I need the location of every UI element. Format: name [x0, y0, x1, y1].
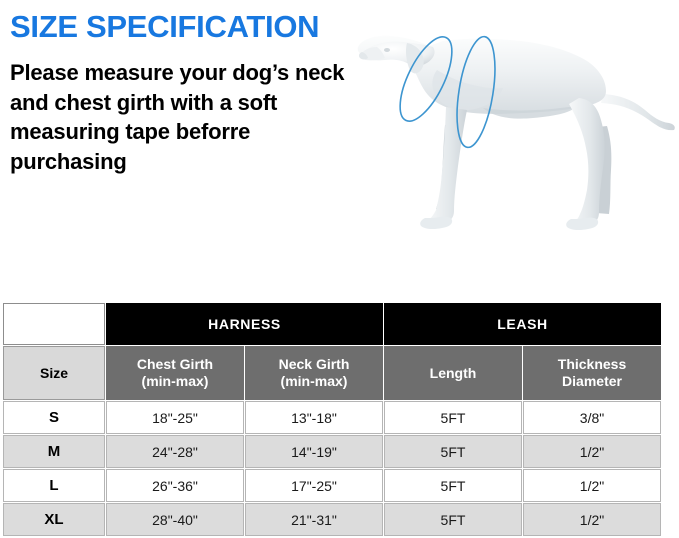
- table-row: L 26"-36" 17"-25" 5FT 1/2": [3, 469, 661, 502]
- cell-thickness: 1/2": [523, 503, 661, 536]
- cell-neck-girth: 17"-25": [245, 469, 383, 502]
- cell-thickness: 1/2": [523, 469, 661, 502]
- cell-length: 5FT: [384, 469, 522, 502]
- cell-length: 5FT: [384, 401, 522, 434]
- column-header-neck-girth: Neck Girth (min-max): [245, 346, 383, 400]
- column-header-chest-girth-line1: Chest Girth: [106, 356, 244, 373]
- group-header-harness: HARNESS: [106, 303, 383, 345]
- column-header-thickness-line1: Thickness: [523, 356, 661, 373]
- table-group-header-row: HARNESS LEASH: [3, 303, 661, 345]
- column-header-thickness-diameter: Thickness Diameter: [523, 346, 661, 400]
- table-row: M 24"-28" 14"-19" 5FT 1/2": [3, 435, 661, 468]
- cell-neck-girth: 21"-31": [245, 503, 383, 536]
- group-header-leash: LEASH: [384, 303, 661, 345]
- dog-front-leg: [427, 107, 467, 224]
- cell-size: XL: [3, 503, 105, 536]
- column-header-length: Length: [384, 346, 522, 400]
- column-header-chest-girth-line2: (min-max): [106, 373, 244, 390]
- size-specification-table: HARNESS LEASH Size Chest Girth (min-max)…: [2, 302, 662, 537]
- cell-chest-girth: 24"-28": [106, 435, 244, 468]
- cell-size: L: [3, 469, 105, 502]
- dog-mannequin-illustration: [333, 0, 679, 240]
- cell-length: 5FT: [384, 503, 522, 536]
- column-header-chest-girth: Chest Girth (min-max): [106, 346, 244, 400]
- group-header-blank: [3, 303, 105, 345]
- dog-front-paw: [420, 217, 452, 229]
- dog-tail: [601, 94, 675, 130]
- cell-size: S: [3, 401, 105, 434]
- table-row: S 18"-25" 13"-18" 5FT 3/8": [3, 401, 661, 434]
- column-header-size: Size: [3, 346, 105, 400]
- cell-chest-girth: 26"-36": [106, 469, 244, 502]
- column-header-neck-girth-line1: Neck Girth: [245, 356, 383, 373]
- table-row: XL 28"-40" 21"-31" 5FT 1/2": [3, 503, 661, 536]
- cell-chest-girth: 28"-40": [106, 503, 244, 536]
- page-title: SIZE SPECIFICATION: [10, 9, 355, 45]
- cell-chest-girth: 18"-25": [106, 401, 244, 434]
- cell-neck-girth: 14"-19": [245, 435, 383, 468]
- cell-length: 5FT: [384, 435, 522, 468]
- intro-paragraph: Please measure your dog’s neck and chest…: [10, 58, 355, 176]
- column-header-thickness-line2: Diameter: [523, 373, 661, 390]
- dog-hind-paw: [566, 218, 598, 230]
- table-column-header-row: Size Chest Girth (min-max) Neck Girth (m…: [3, 346, 661, 400]
- column-header-neck-girth-line2: (min-max): [245, 373, 383, 390]
- cell-size: M: [3, 435, 105, 468]
- intro-block: SIZE SPECIFICATION Please measure your d…: [10, 9, 355, 176]
- cell-thickness: 1/2": [523, 435, 661, 468]
- dog-eye: [384, 48, 390, 52]
- cell-thickness: 3/8": [523, 401, 661, 434]
- cell-neck-girth: 13"-18": [245, 401, 383, 434]
